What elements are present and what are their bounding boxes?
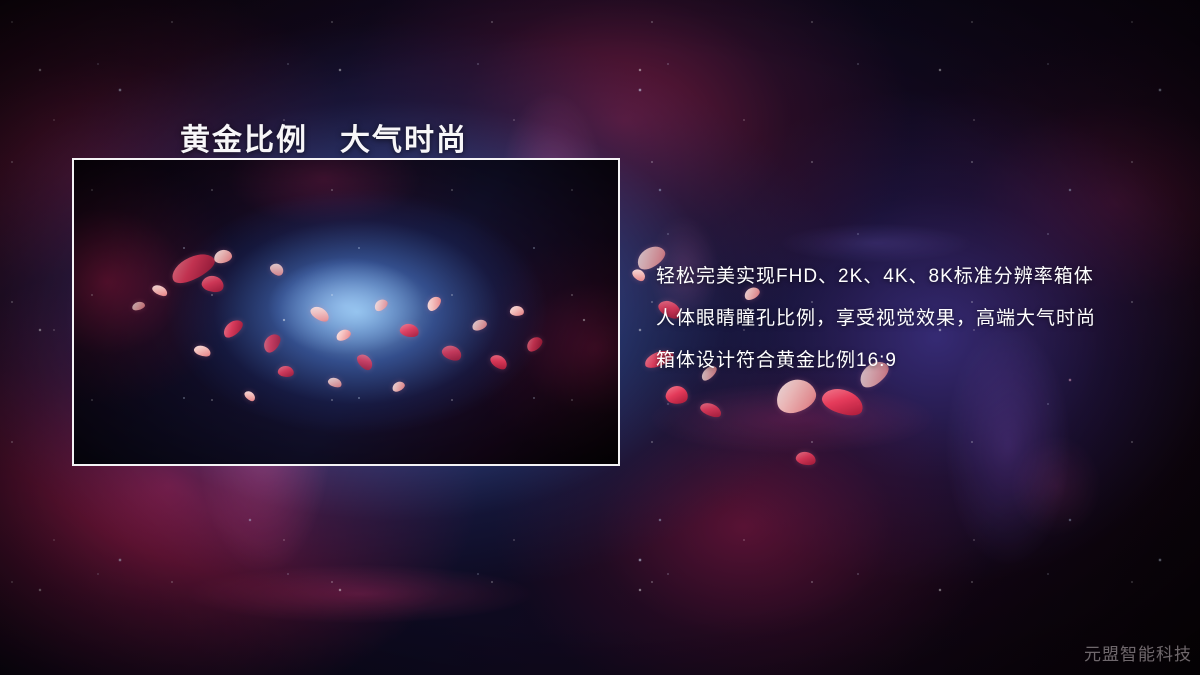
- framed-product-image: [72, 158, 620, 466]
- background-petal: [698, 400, 723, 420]
- body-line-3: 箱体设计符合黄金比例16:9: [656, 340, 1176, 382]
- presentation-slide: 黄金比例 大气时尚 轻松完美实现FHD、2K、4K、8K标准分辨率箱体 人体眼睛…: [0, 0, 1200, 675]
- framed-image-vignette: [74, 160, 618, 464]
- background-petal: [819, 383, 867, 421]
- body-line-2: 人体眼睛瞳孔比例，享受视觉效果，高端大气时尚: [656, 298, 1176, 340]
- body-copy-block: 轻松完美实现FHD、2K、4K、8K标准分辨率箱体 人体眼睛瞳孔比例，享受视觉效…: [656, 256, 1176, 382]
- page-title: 黄金比例 大气时尚: [180, 123, 468, 159]
- background-petal: [795, 449, 818, 467]
- body-line-1: 轻松完美实现FHD、2K、4K、8K标准分辨率箱体: [656, 256, 1176, 298]
- company-watermark: 元盟智能科技: [1084, 640, 1192, 665]
- background-petal: [664, 384, 689, 406]
